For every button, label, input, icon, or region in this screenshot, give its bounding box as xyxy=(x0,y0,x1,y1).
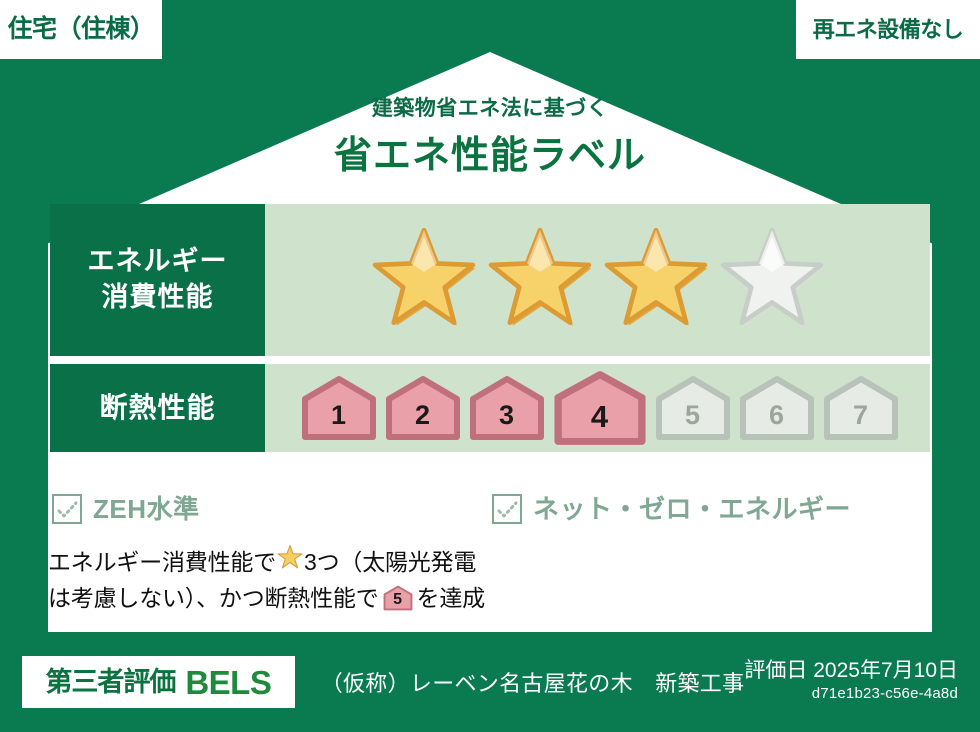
grade-number: 5 xyxy=(685,402,700,441)
star-rating xyxy=(265,204,930,356)
evaluation-date: 評価日 2025年7月10日 xyxy=(744,658,958,683)
grade-number: 3 xyxy=(499,402,514,441)
insulation-grade-scale: 1234567 xyxy=(265,364,930,452)
star-empty-icon xyxy=(717,226,827,335)
evaluation-id: d71e1b23-c56e-4a8d xyxy=(744,683,958,706)
insulation-grade-3: 3 xyxy=(468,375,546,441)
label-subtitle: 建築物省エネ法に基づく xyxy=(0,92,980,122)
inline-grade-number: 5 xyxy=(393,592,402,611)
description-line-1: エネルギー消費性能で 3つ（太陽光発電 xyxy=(48,544,518,581)
achievement-description: エネルギー消費性能で 3つ（太陽光発電 は考慮しない）、かつ断熱性能で 5 を達… xyxy=(48,544,518,616)
inline-grade-house-icon: 5 xyxy=(383,585,413,611)
grade-number: 2 xyxy=(415,402,430,441)
zeh-label: ZEH水準 xyxy=(93,496,200,522)
building-type-tag: 住宅（住棟） xyxy=(0,0,162,59)
netzero-checkbox-icon xyxy=(492,494,522,524)
insulation-grade-5: 5 xyxy=(654,375,732,441)
bels-en-text: BELS xyxy=(185,666,271,699)
star-filled-icon xyxy=(369,226,479,335)
netzero-criterion: ネット・ゼロ・エネルギー xyxy=(492,494,851,524)
grade-number: 7 xyxy=(853,402,868,441)
insulation-grade-2: 2 xyxy=(384,375,462,441)
star-filled-icon xyxy=(485,226,595,335)
insulation-grade-4: 4 xyxy=(552,370,648,446)
grade-number: 6 xyxy=(769,402,784,441)
insulation-performance-row: 断熱性能 1234567 xyxy=(50,364,930,452)
criteria-row: ZEH水準 ネット・ゼロ・エネルギー xyxy=(52,494,912,524)
energy-label-line2: 消費性能 xyxy=(102,280,214,316)
zeh-checkbox-icon xyxy=(52,494,82,524)
label-title: 省エネ性能ラベル xyxy=(0,124,980,179)
description-text-1a: エネルギー消費性能で xyxy=(48,545,276,581)
description-line-2: は考慮しない）、かつ断熱性能で 5 を達成 xyxy=(48,581,518,617)
inline-star-icon xyxy=(277,544,303,581)
insulation-label-text: 断熱性能 xyxy=(99,390,215,427)
grade-number: 1 xyxy=(331,402,346,441)
evaluation-info: 評価日 2025年7月10日 d71e1b23-c56e-4a8d xyxy=(744,658,958,706)
netzero-label: ネット・ゼロ・エネルギー xyxy=(533,496,851,522)
energy-performance-label: エネルギー 消費性能 xyxy=(50,204,265,356)
zeh-criterion: ZEH水準 xyxy=(52,494,492,524)
energy-label-line1: エネルギー xyxy=(88,244,228,280)
description-text-2b: を達成 xyxy=(417,581,485,617)
star-filled-icon xyxy=(601,226,711,335)
description-text-1b: 3つ（太陽光発電 xyxy=(304,545,476,581)
insulation-grade-6: 6 xyxy=(738,375,816,441)
bels-energy-label: 住宅（住棟） 再エネ設備なし 建築物省エネ法に基づく 省エネ性能ラベル エネルギ… xyxy=(0,0,980,732)
insulation-grade-7: 7 xyxy=(822,375,900,441)
renewable-energy-tag: 再エネ設備なし xyxy=(796,0,980,59)
insulation-performance-label: 断熱性能 xyxy=(50,364,265,452)
label-footer: 第三者評価 BELS （仮称）レーベン名古屋花の木 新築工事 評価日 2025年… xyxy=(0,632,980,732)
grade-number: 4 xyxy=(591,401,608,446)
insulation-grade-1: 1 xyxy=(300,375,378,441)
building-name: （仮称）レーベン名古屋花の木 新築工事 xyxy=(321,666,745,698)
energy-performance-row: エネルギー 消費性能 xyxy=(50,204,930,356)
bels-jp-text: 第三者評価 xyxy=(45,669,175,696)
bels-certification-badge: 第三者評価 BELS xyxy=(22,656,295,708)
description-text-2a: は考慮しない）、かつ断熱性能で xyxy=(48,581,379,617)
